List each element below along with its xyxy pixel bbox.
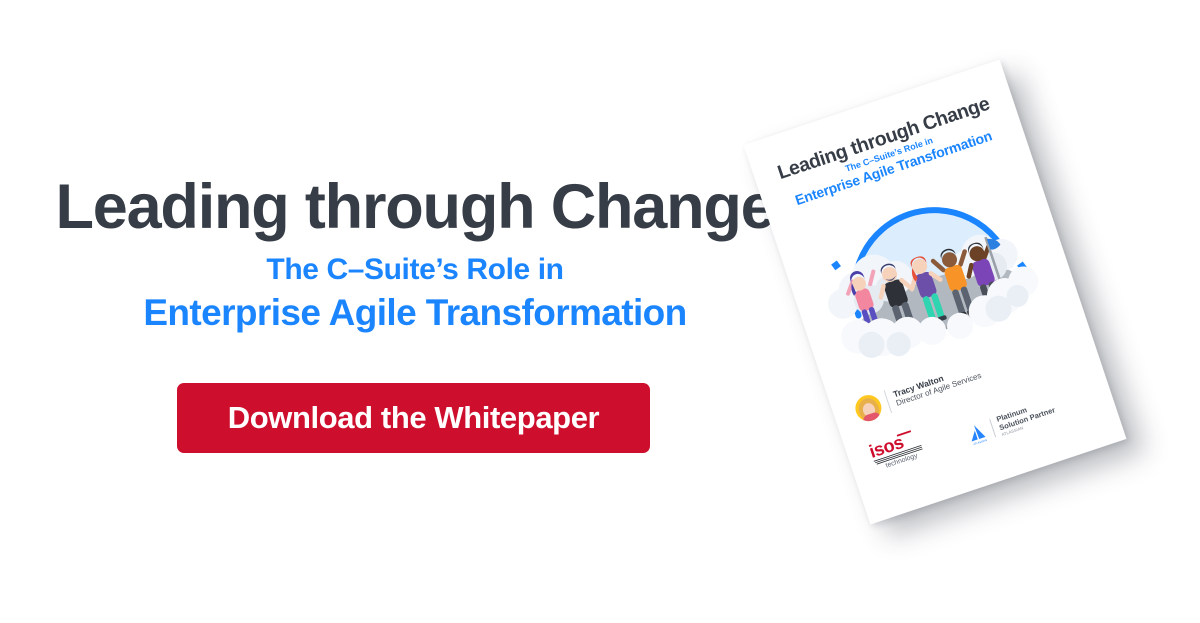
avatar [852, 392, 885, 425]
credit-divider [884, 390, 893, 413]
whitepaper-cover-stage: Leading through Change The C–Suite’s Rol… [742, 62, 1162, 562]
cover-content: Leading through Change The C–Suite’s Rol… [744, 59, 1127, 524]
cta-container: Download the Whitepaper [177, 383, 650, 453]
whitepaper-promo-banner: Leading through Change The C–Suite’s Rol… [0, 0, 1200, 623]
atlassian-chevron-icon: ATLASSIAN [964, 420, 990, 447]
partner-text-group: Platinum Solution Partner ATLASSIAN [995, 397, 1058, 438]
headline-block: Leading through Change The C–Suite’s Rol… [0, 175, 830, 333]
author-text-group: Tracy Walton Director of Agile Services [892, 361, 983, 409]
subtitle-line-1: The C–Suite’s Role in [0, 252, 830, 287]
isos-technology-logo: isos technology [865, 421, 947, 479]
partner-divider [989, 419, 996, 437]
subtitle-line-2: Enterprise Agile Transformation [0, 292, 830, 333]
whitepaper-cover-card[interactable]: Leading through Change The C–Suite’s Rol… [744, 59, 1127, 524]
download-whitepaper-button[interactable]: Download the Whitepaper [177, 383, 650, 453]
atlassian-platinum-partner-badge: ATLASSIAN Platinum Solution Partner ATLA… [964, 397, 1058, 448]
page-title: Leading through Change [0, 175, 830, 239]
